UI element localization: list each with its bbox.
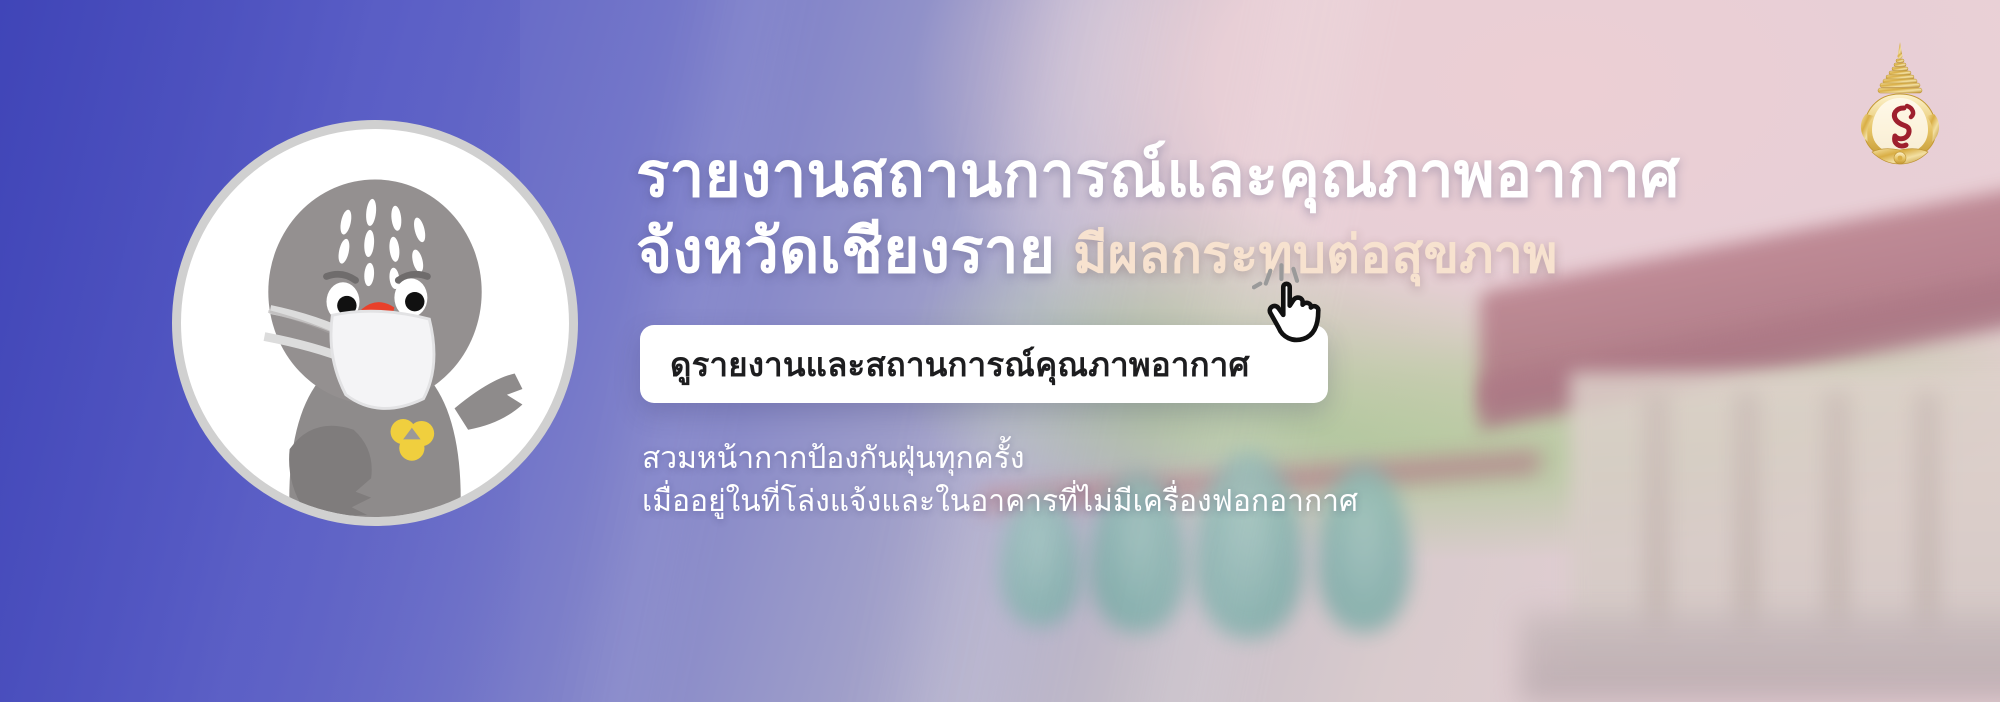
mascot-circle-frame	[172, 120, 578, 526]
masked-bird-mascot-icon	[181, 129, 569, 517]
page-title: รายงานสถานการณ์และคุณภาพอากาศ จังหวัดเชี…	[636, 138, 1886, 289]
cta-label: ดูรายงานและสถานการณ์คุณภาพอากาศ	[670, 338, 1250, 391]
view-air-quality-report-button[interactable]: ดูรายงานและสถานการณ์คุณภาพอากาศ	[640, 325, 1328, 403]
building-column	[1914, 392, 1940, 642]
advice-text: สวมหน้ากากป้องกันฝุ่นทุกครั้ง เมื่ออยู่ใ…	[642, 438, 1358, 523]
advice-line-1: สวมหน้ากากป้องกันฝุ่นทุกครั้ง	[642, 438, 1358, 481]
headline-line-2: จังหวัดเชียงรายมีผลกระทบต่อสุขภาพ	[636, 214, 1886, 290]
health-impact-status: มีผลกระทบต่อสุขภาพ	[1055, 226, 1557, 284]
advice-line-2: เมื่ออยู่ในที่โล่งแจ้งและในอาคารที่ไม่มี…	[642, 481, 1358, 524]
mascot-avatar	[172, 120, 578, 526]
banner-content: รายงานสถานการณ์และคุณภาพอากาศ จังหวัดเชี…	[636, 0, 1886, 702]
royal-thai-chedi-emblem-icon	[1852, 38, 1948, 170]
province-name: จังหวัดเชียงราย	[636, 217, 1055, 286]
headline-line-1: รายงานสถานการณ์และคุณภาพอากาศ	[636, 141, 1680, 210]
air-quality-banner: รายงานสถานการณ์และคุณภาพอากาศ จังหวัดเชี…	[0, 0, 2000, 702]
